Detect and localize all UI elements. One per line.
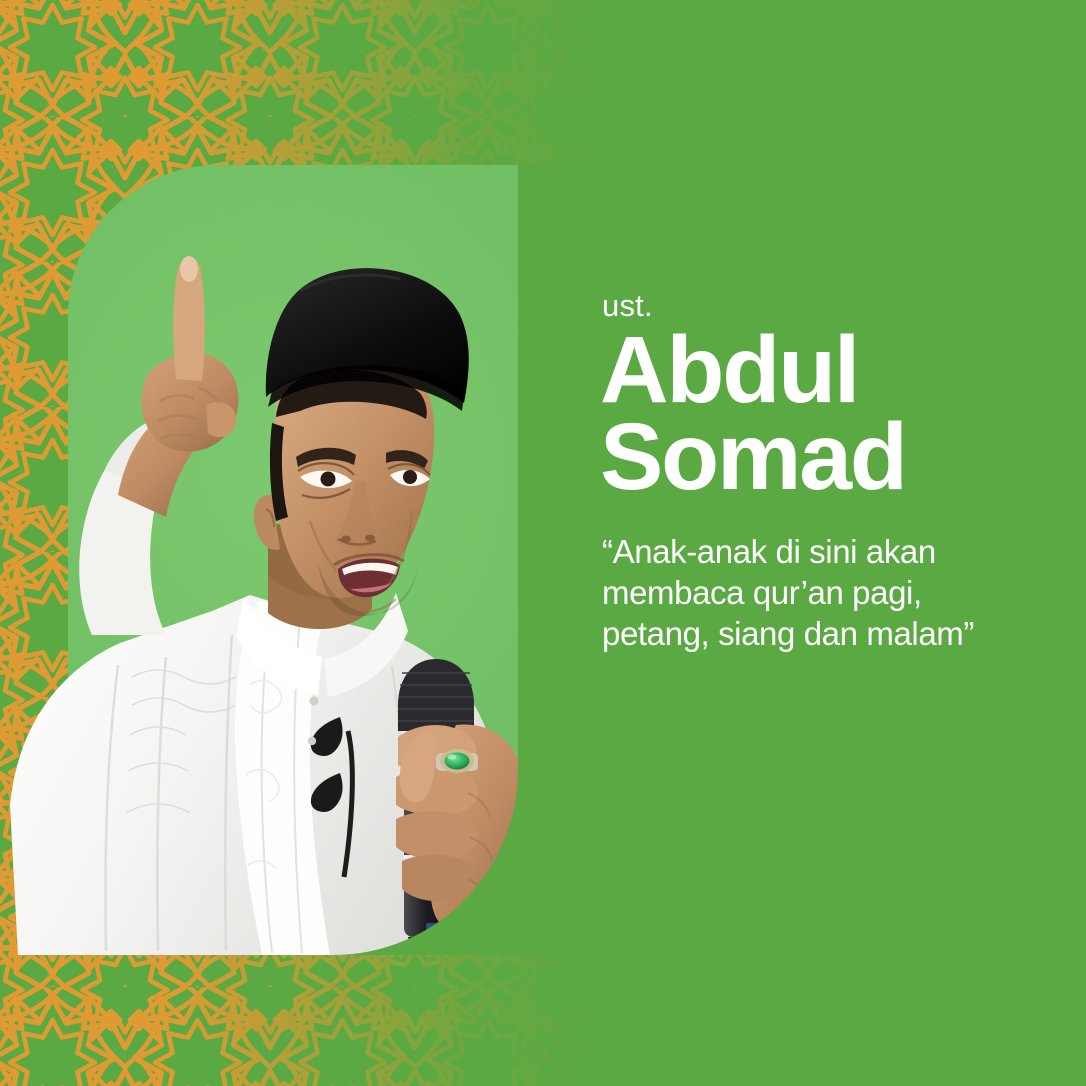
- quote-poster: ust. Abdul Somad “Anak-anak di sini akan…: [0, 0, 1086, 1086]
- speaker-name: Abdul Somad: [600, 327, 1030, 502]
- text-column: ust. Abdul Somad “Anak-anak di sini akan…: [600, 290, 1030, 655]
- subject-photo: [0, 165, 620, 955]
- raised-index-finger-hand: [118, 256, 238, 517]
- quote-text: “Anak-anak di sini akan membaca qur’an p…: [602, 532, 1030, 655]
